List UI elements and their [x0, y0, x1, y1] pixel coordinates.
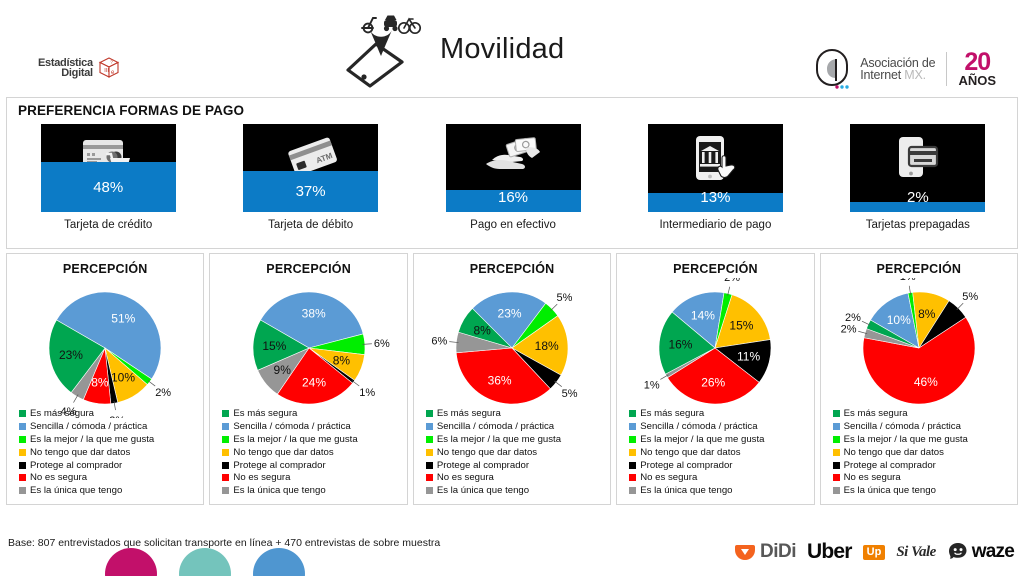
- legend-item: Es más segura: [222, 407, 357, 420]
- legend-item: No tengo que dar datos: [222, 446, 357, 459]
- payment-card-3: 16%Pago en efectivo: [412, 124, 614, 231]
- legend-swatch: [426, 423, 433, 430]
- perception-chart-title: PERCEPCIÓN: [210, 262, 406, 276]
- didi-icon: [734, 541, 756, 563]
- legend-label: Sencilla / cómoda / práctica: [30, 421, 147, 432]
- perception-chart-panel-2: PERCEPCIÓN38%6%8%1%24%9%15%Es más segura…: [209, 253, 407, 505]
- payment-card-visual: 2%: [850, 124, 985, 212]
- perception-chart-title: PERCEPCIÓN: [821, 262, 1017, 276]
- pie-value-label: 2%: [725, 278, 741, 284]
- legend-item: Es la mejor / la que me gusta: [629, 433, 764, 446]
- legend-item: Es la única que tengo: [629, 484, 764, 497]
- legend-label: Es más segura: [844, 408, 908, 419]
- legend-swatch: [222, 474, 229, 481]
- legend-swatch: [629, 410, 636, 417]
- pie-value-label: 46%: [914, 375, 938, 389]
- legend-item: Protege al comprador: [833, 459, 968, 472]
- title-group: Movilidad: [340, 8, 564, 90]
- pie-leader-line: [351, 380, 358, 386]
- payment-card-percentage: 2%: [850, 189, 985, 206]
- payment-card-5: 2%Tarjetas prepagadas: [817, 124, 1019, 231]
- footer-dots: [105, 548, 305, 576]
- legend-item: Es la única que tengo: [222, 484, 357, 497]
- ed-line2: Digital: [38, 68, 93, 78]
- legend-item: No es segura: [19, 471, 154, 484]
- brand-sivale: Si Vale: [896, 544, 935, 561]
- pie-value-label: 15%: [262, 339, 286, 353]
- pie-value-label: 18%: [535, 339, 559, 353]
- legend-label: No es segura: [437, 472, 494, 483]
- legend-label: No tengo que dar datos: [640, 447, 740, 458]
- pie-value-label: 1%: [359, 387, 375, 399]
- pie-value-label: 38%: [301, 307, 325, 321]
- payment-card-label: Tarjeta de débito: [268, 219, 353, 231]
- legend-label: Es la mejor / la que me gusta: [640, 434, 764, 445]
- legend-item: Sencilla / cómoda / práctica: [629, 420, 764, 433]
- legend-item: No es segura: [629, 471, 764, 484]
- pie-value-label: 5%: [962, 291, 978, 303]
- payment-card-percentage: 48%: [41, 179, 176, 196]
- pie-value-label: 36%: [488, 373, 512, 387]
- legend-label: No tengo que dar datos: [844, 447, 944, 458]
- legend-item: Sencilla / cómoda / práctica: [222, 420, 357, 433]
- payment-card-percentage: 13%: [648, 189, 783, 206]
- legend-swatch: [426, 410, 433, 417]
- brand-waze: waze: [947, 541, 1014, 563]
- asociacion-internet-icon: [815, 48, 853, 90]
- page-title: Movilidad: [440, 33, 564, 66]
- legend-swatch: [222, 462, 229, 469]
- pie-value-label: 5%: [562, 388, 578, 400]
- perception-pie-area: 38%6%8%1%24%9%15%: [210, 278, 406, 418]
- footer-dot: [253, 548, 305, 576]
- pie-value-label: 8%: [332, 353, 350, 367]
- pie-value-label: 2%: [840, 324, 856, 336]
- pie-value-label: 9%: [273, 363, 291, 377]
- perception-chart-panel-5: PERCEPCIÓN10%1%8%5%46%2%2%Es más seguraS…: [820, 253, 1018, 505]
- legend-swatch: [833, 449, 840, 456]
- legend-label: Es la mejor / la que me gusta: [30, 434, 154, 445]
- legend-label: Protege al comprador: [30, 460, 122, 471]
- legend-label: Protege al comprador: [640, 460, 732, 471]
- perception-legend: Es más seguraSencilla / cómoda / práctic…: [19, 407, 154, 497]
- anniversary-number: 20: [958, 51, 996, 74]
- legend-label: No es segura: [30, 472, 87, 483]
- pie-value-label: 51%: [111, 311, 135, 325]
- brand-uber: Uber: [807, 540, 852, 564]
- perception-legend: Es más seguraSencilla / cómoda / práctic…: [629, 407, 764, 497]
- pie-leader-line: [957, 303, 963, 310]
- legend-swatch: [833, 462, 840, 469]
- legend-item: No tengo que dar datos: [426, 446, 561, 459]
- legend-label: No es segura: [233, 472, 290, 483]
- pie-value-label: 1%: [644, 379, 660, 391]
- estadistica-digital-logo: Estadística Digital III e ?: [38, 57, 120, 79]
- ai-line2: Internet MX.: [860, 69, 935, 81]
- pie-leader-line: [551, 304, 558, 310]
- legend-label: Es la única que tengo: [233, 485, 325, 496]
- legend-label: Protege al comprador: [437, 460, 529, 471]
- legend-item: No es segura: [833, 471, 968, 484]
- pie-value-label: 5%: [556, 292, 572, 304]
- pie-value-label: 8%: [918, 307, 936, 321]
- perception-legend: Es más seguraSencilla / cómoda / práctic…: [833, 407, 968, 497]
- legend-item: Es más segura: [19, 407, 154, 420]
- didi-label: DiDi: [760, 541, 796, 563]
- legend-label: Es la única que tengo: [30, 485, 122, 496]
- legend-swatch: [19, 474, 26, 481]
- legend-swatch: [426, 436, 433, 443]
- payment-card-label: Intermediario de pago: [659, 219, 771, 231]
- legend-swatch: [426, 474, 433, 481]
- footer-dot: [105, 548, 157, 576]
- legend-label: No tengo que dar datos: [233, 447, 333, 458]
- legend-swatch: [19, 487, 26, 494]
- legend-item: Sencilla / cómoda / práctica: [19, 420, 154, 433]
- legend-label: Es más segura: [640, 408, 704, 419]
- legend-item: Es más segura: [426, 407, 561, 420]
- pie-value-label: 2%: [155, 387, 171, 399]
- legend-label: No es segura: [640, 472, 697, 483]
- legend-label: No es segura: [844, 472, 901, 483]
- anniversary-label: AÑOS: [958, 74, 996, 87]
- perception-chart-title: PERCEPCIÓN: [414, 262, 610, 276]
- perception-chart-title: PERCEPCIÓN: [617, 262, 813, 276]
- payment-card-label: Tarjeta de crédito: [64, 219, 152, 231]
- perception-legend: Es más seguraSencilla / cómoda / práctic…: [426, 407, 561, 497]
- legend-swatch: [19, 449, 26, 456]
- legend-swatch: [222, 436, 229, 443]
- perception-chart-panel-4: PERCEPCIÓN14%2%15%11%26%1%16%Es más segu…: [616, 253, 814, 505]
- legend-item: No es segura: [426, 471, 561, 484]
- pie-value-label: 23%: [59, 348, 83, 362]
- legend-item: Sencilla / cómoda / práctica: [833, 420, 968, 433]
- phone-mobility-icon: [340, 8, 428, 90]
- cube-icon: III e ?: [98, 57, 120, 79]
- legend-label: Sencilla / cómoda / práctica: [437, 421, 554, 432]
- footer-dot: [179, 548, 231, 576]
- legend-swatch: [629, 487, 636, 494]
- legend-swatch: [222, 410, 229, 417]
- infographic-page: Estadística Digital III e ?: [0, 0, 1024, 576]
- legend-swatch: [19, 423, 26, 430]
- legend-label: Es la única que tengo: [437, 485, 529, 496]
- legend-item: Es la única que tengo: [426, 484, 561, 497]
- brand-logos-row: DiDi Uber Up Si Vale waze: [734, 540, 1014, 564]
- header: Estadística Digital III e ?: [0, 0, 1024, 97]
- payment-cards-row: 48%Tarjeta de créditoATM37%Tarjeta de dé…: [7, 124, 1019, 231]
- payment-card-4: 13%Intermediario de pago: [614, 124, 816, 231]
- svg-text:III: III: [104, 68, 109, 74]
- legend-label: Protege al comprador: [844, 460, 936, 471]
- legend-item: No tengo que dar datos: [629, 446, 764, 459]
- legend-item: Es más segura: [629, 407, 764, 420]
- anniversary-badge: 20 AÑOS: [958, 51, 996, 87]
- legend-label: Sencilla / cómoda / práctica: [233, 421, 350, 432]
- pie-leader-line: [148, 381, 155, 387]
- pie-value-label: 1%: [900, 278, 916, 283]
- payment-card-visual: 48%: [41, 124, 176, 212]
- legend-label: Es más segura: [437, 408, 501, 419]
- pie-value-label: 16%: [669, 337, 693, 351]
- perception-chart-panel-3: PERCEPCIÓN23%5%18%5%36%6%8%Es más segura…: [413, 253, 611, 505]
- waze-icon: [947, 542, 969, 562]
- payment-card-visual: 16%: [446, 124, 581, 212]
- legend-swatch: [19, 462, 26, 469]
- payment-panel-title: PREFERENCIA FORMAS DE PAGO: [18, 103, 244, 118]
- legend-label: Protege al comprador: [233, 460, 325, 471]
- legend-item: Es la mejor / la que me gusta: [426, 433, 561, 446]
- waze-label: waze: [972, 541, 1014, 563]
- perception-chart-panel-1: PERCEPCIÓN51%2%10%2%8%4%23%Es más segura…: [6, 253, 204, 505]
- logo-divider: [946, 52, 947, 86]
- legend-label: Sencilla / cómoda / práctica: [844, 421, 961, 432]
- perception-legend: Es más seguraSencilla / cómoda / práctic…: [222, 407, 357, 497]
- pie-value-label: 6%: [431, 336, 447, 348]
- asociacion-internet-text: Asociación de Internet MX.: [860, 57, 935, 81]
- perception-chart-title: PERCEPCIÓN: [7, 262, 203, 276]
- payment-card-2: ATM37%Tarjeta de débito: [209, 124, 411, 231]
- legend-swatch: [19, 436, 26, 443]
- estadistica-digital-text: Estadística Digital: [38, 58, 93, 78]
- legend-swatch: [426, 449, 433, 456]
- legend-item: Es la mejor / la que me gusta: [19, 433, 154, 446]
- payment-preference-panel: PREFERENCIA FORMAS DE PAGO 48%Tarjeta de…: [6, 97, 1018, 249]
- legend-item: Protege al comprador: [19, 459, 154, 472]
- legend-swatch: [629, 449, 636, 456]
- payment-card-label: Tarjetas prepagadas: [866, 219, 970, 231]
- pie-value-label: 8%: [474, 323, 492, 337]
- pie-value-label: 6%: [373, 338, 389, 350]
- legend-swatch: [426, 462, 433, 469]
- pie-value-label: 11%: [737, 350, 760, 364]
- legend-item: Es la mejor / la que me gusta: [833, 433, 968, 446]
- payment-card-label: Pago en efectivo: [470, 219, 556, 231]
- legend-label: No tengo que dar datos: [30, 447, 130, 458]
- payment-card-percentage: 37%: [243, 183, 378, 200]
- payment-card-1: 48%Tarjeta de crédito: [7, 124, 209, 231]
- legend-swatch: [833, 423, 840, 430]
- legend-label: Es la única que tengo: [844, 485, 936, 496]
- legend-swatch: [629, 474, 636, 481]
- pie-value-label: 10%: [887, 313, 911, 327]
- legend-item: Es la mejor / la que me gusta: [222, 433, 357, 446]
- legend-item: Es más segura: [833, 407, 968, 420]
- legend-label: Es la mejor / la que me gusta: [233, 434, 357, 445]
- pie-value-label: 23%: [498, 306, 522, 320]
- legend-item: Es la única que tengo: [19, 484, 154, 497]
- legend-item: No tengo que dar datos: [833, 446, 968, 459]
- legend-item: No tengo que dar datos: [19, 446, 154, 459]
- legend-label: Es la mejor / la que me gusta: [844, 434, 968, 445]
- perception-pie-area: 14%2%15%11%26%1%16%: [617, 278, 813, 418]
- legend-swatch: [629, 423, 636, 430]
- legend-swatch: [629, 436, 636, 443]
- legend-label: Es la única que tengo: [640, 485, 732, 496]
- legend-swatch: [19, 410, 26, 417]
- legend-swatch: [833, 436, 840, 443]
- payment-card-percentage: 16%: [446, 189, 581, 206]
- legend-item: No es segura: [222, 471, 357, 484]
- legend-item: Protege al comprador: [629, 459, 764, 472]
- asociacion-internet-logo: Asociación de Internet MX. 20 AÑOS: [815, 48, 996, 90]
- payment-card-visual: 13%: [648, 124, 783, 212]
- pie-value-label: 2%: [845, 312, 861, 324]
- legend-swatch: [833, 410, 840, 417]
- legend-item: Protege al comprador: [426, 459, 561, 472]
- legend-swatch: [833, 474, 840, 481]
- pie-value-label: 26%: [702, 376, 726, 390]
- legend-swatch: [629, 462, 636, 469]
- legend-swatch: [426, 487, 433, 494]
- payment-card-visual: ATM37%: [243, 124, 378, 212]
- legend-label: Sencilla / cómoda / práctica: [640, 421, 757, 432]
- pie-value-label: 24%: [302, 375, 326, 389]
- legend-item: Sencilla / cómoda / práctica: [426, 420, 561, 433]
- pie-value-label: 15%: [730, 318, 754, 332]
- legend-item: Es la única que tengo: [833, 484, 968, 497]
- pie-value-label: 10%: [111, 371, 135, 385]
- brand-didi: DiDi: [734, 541, 796, 563]
- perception-charts-row: PERCEPCIÓN51%2%10%2%8%4%23%Es más segura…: [6, 253, 1018, 505]
- pie-value-label: 14%: [691, 308, 715, 322]
- legend-label: Es más segura: [233, 408, 297, 419]
- legend-label: No tengo que dar datos: [437, 447, 537, 458]
- legend-label: Es la mejor / la que me gusta: [437, 434, 561, 445]
- perception-pie-area: 10%1%8%5%46%2%2%: [821, 278, 1017, 418]
- legend-label: Es más segura: [30, 408, 94, 419]
- legend-swatch: [833, 487, 840, 494]
- legend-item: Protege al comprador: [222, 459, 357, 472]
- legend-swatch: [222, 423, 229, 430]
- perception-pie-area: 23%5%18%5%36%6%8%: [414, 278, 610, 418]
- pie-leader-line: [554, 381, 561, 387]
- pie-value-label: 8%: [91, 375, 109, 389]
- legend-swatch: [222, 449, 229, 456]
- perception-pie-area: 51%2%10%2%8%4%23%: [7, 278, 203, 418]
- legend-swatch: [222, 487, 229, 494]
- brand-up: Up: [863, 545, 886, 560]
